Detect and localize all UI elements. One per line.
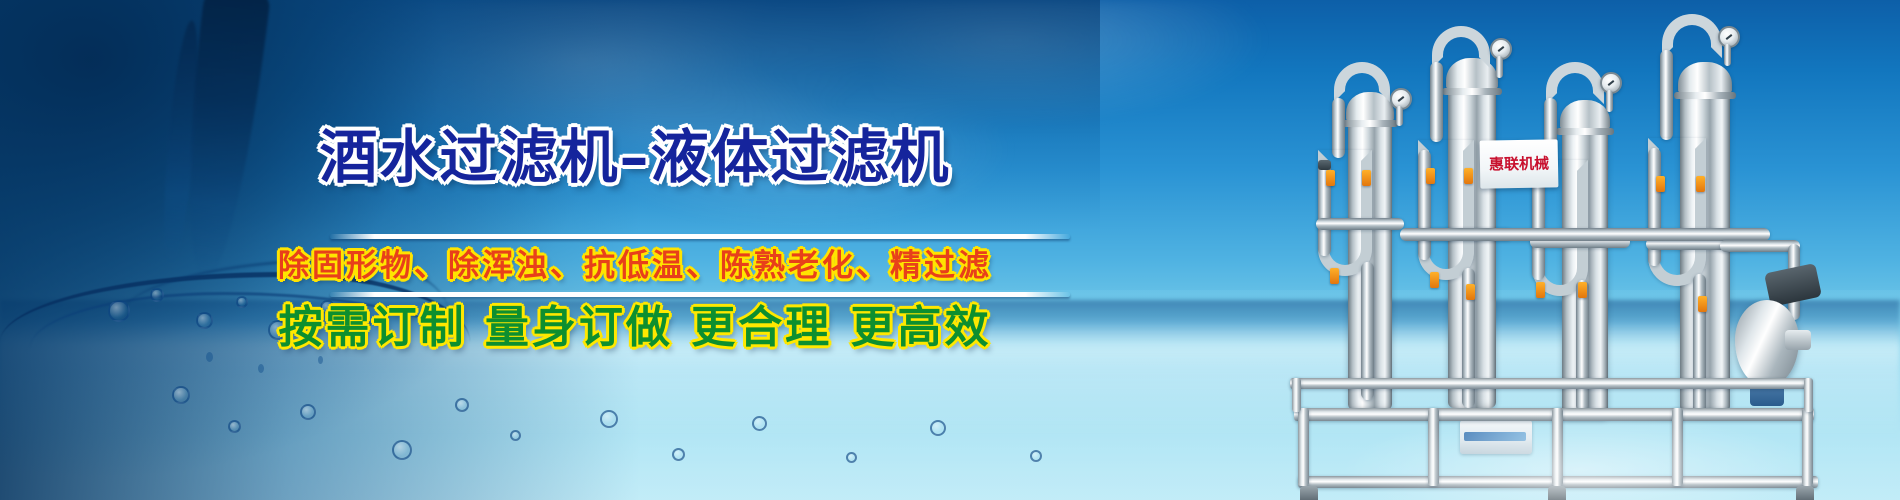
vessel-2-downleg [1418, 150, 1431, 260]
brand-plate: 惠联机械 [1480, 139, 1559, 188]
vessel-4-flange [1674, 92, 1736, 99]
divider-top [330, 234, 1070, 239]
valve-handle [1362, 170, 1371, 186]
vessel-2-flange [1442, 88, 1502, 95]
gauge-3-stem [1606, 90, 1613, 112]
valve-handle [1430, 272, 1439, 288]
valve-handle [1698, 296, 1707, 312]
feature-subtitle: 除固形物、除浑浊、抗低温、陈熟老化、精过滤 [0, 246, 1270, 288]
gauge-2-stem [1496, 56, 1503, 78]
valve-handle [1578, 282, 1587, 298]
vessel-1-flange [1342, 120, 1398, 127]
valve-handle [1330, 268, 1339, 284]
valve-handle [1536, 282, 1545, 298]
tagline: 按需订制 量身订做 更合理 更高效 [0, 300, 1270, 355]
vessel-2-inlet-bend [1432, 26, 1490, 68]
pump-outlet [1785, 330, 1811, 350]
divider-bottom [330, 292, 1070, 297]
vessel-3-cap [1560, 100, 1610, 130]
valve-handle [1326, 170, 1335, 186]
vessel-4-riser [1660, 50, 1673, 140]
product-floor-reflection [1280, 350, 1900, 500]
brand-plate-label: 惠联机械 [1489, 156, 1549, 172]
vessel-2-riser [1430, 62, 1443, 142]
valve-handle [1466, 284, 1475, 300]
main-manifold-header [1400, 228, 1770, 241]
vessel-3-flange [1556, 128, 1614, 135]
gauge-4-stem [1724, 44, 1731, 66]
headline-block: 酒水过滤机–液体过滤机 除固形物、除浑浊、抗低温、陈熟老化、精过滤 按需订制 量… [0, 0, 1270, 500]
branch-line-1 [1316, 218, 1404, 230]
valve-handle [1696, 176, 1705, 192]
vessel-3-inlet-bend [1546, 62, 1604, 104]
vessel-1-inlet-bend [1334, 62, 1390, 102]
valve-handle [1464, 168, 1473, 184]
page-title: 酒水过滤机–液体过滤机 [0, 128, 1270, 186]
vessel-1-riser [1332, 98, 1345, 158]
promo-banner: 酒水过滤机–液体过滤机 除固形物、除浑浊、抗低温、陈熟老化、精过滤 按需订制 量… [0, 0, 1900, 500]
valve-handle [1656, 176, 1665, 192]
valve-handle [1426, 168, 1435, 184]
vessel-4-cap [1678, 62, 1732, 94]
valve-body [1318, 160, 1331, 170]
gauge-1-stem [1396, 106, 1403, 126]
